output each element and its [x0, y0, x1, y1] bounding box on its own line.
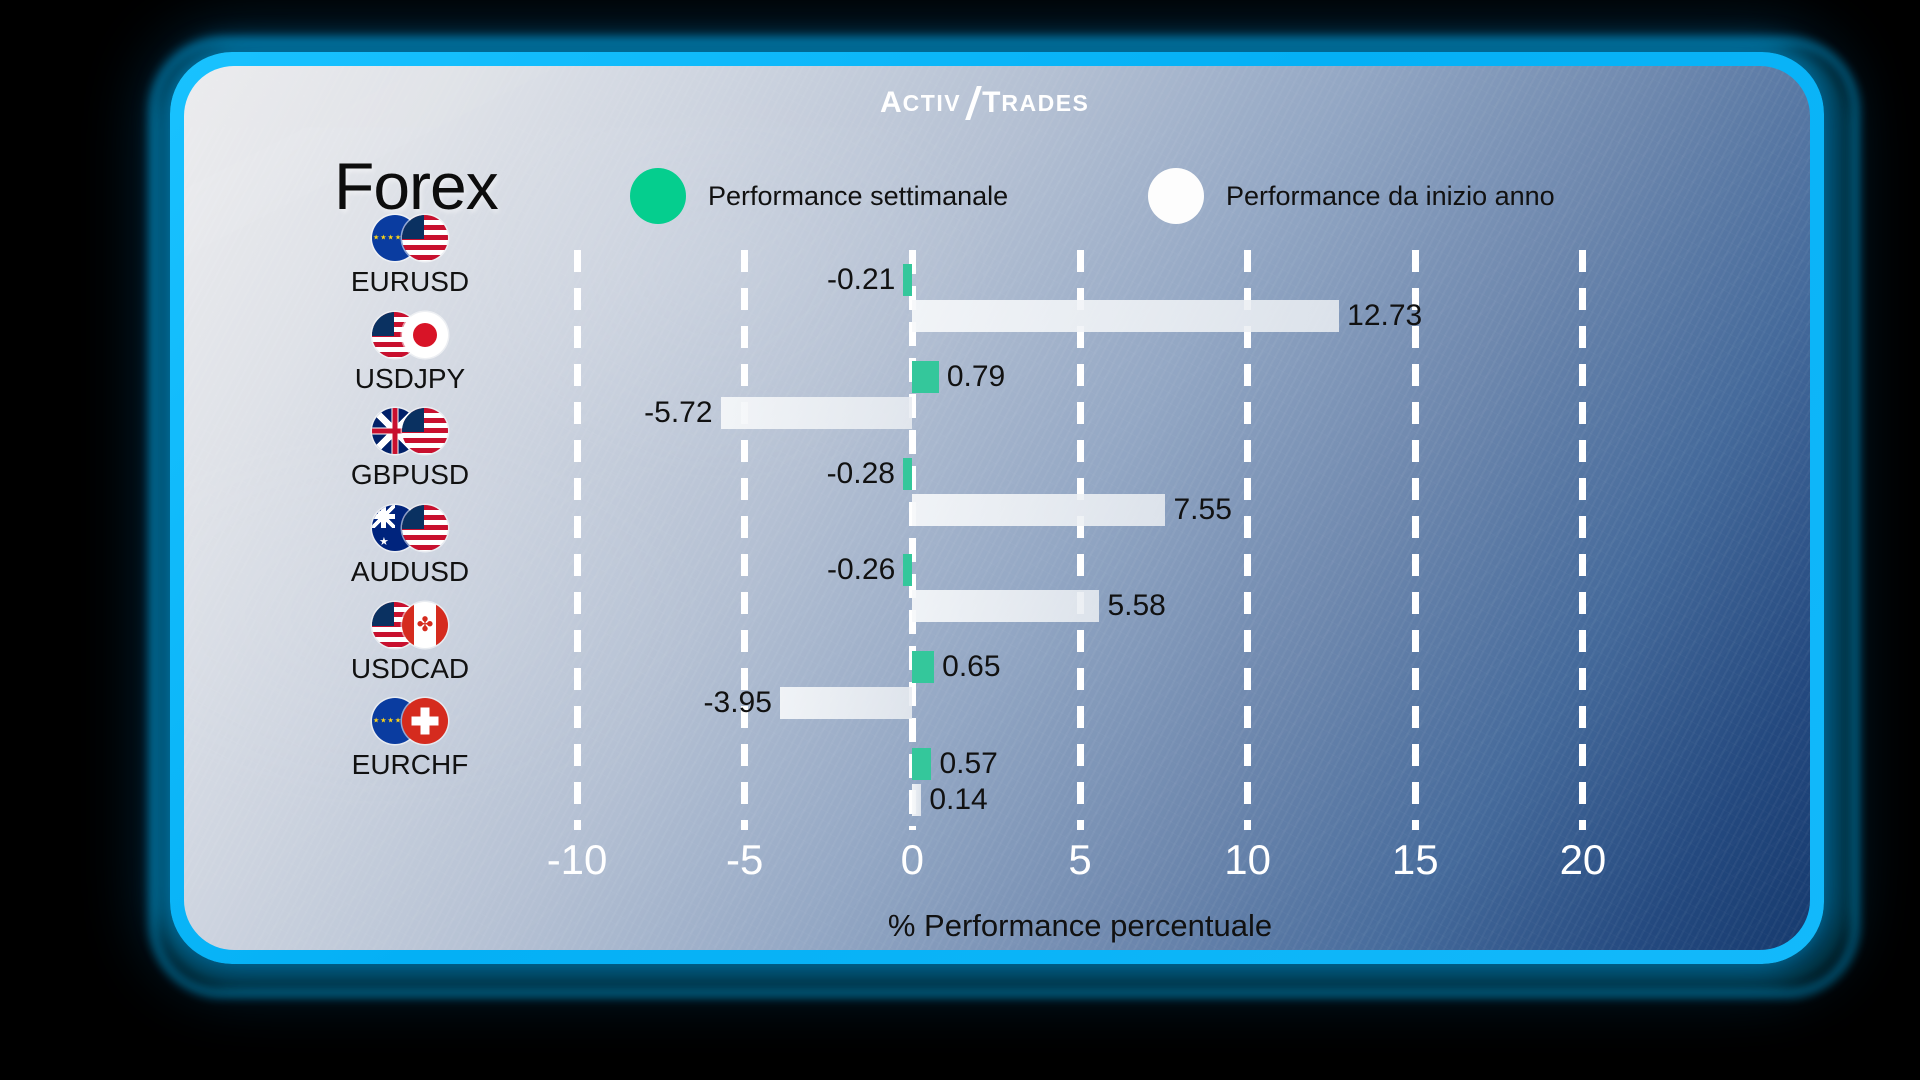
flag-pair — [300, 405, 520, 457]
gridline-zero — [909, 250, 916, 830]
bar-value-label: -0.21 — [827, 264, 895, 296]
bar-eurchf-weekly — [912, 748, 931, 780]
flag-pair — [300, 309, 520, 361]
logo-a: A — [880, 86, 903, 120]
bar-value-label: 12.73 — [1347, 300, 1422, 332]
x-tick-label: 10 — [1224, 836, 1271, 884]
bar-value-label: -0.26 — [827, 554, 895, 586]
x-tick-label: 0 — [901, 836, 924, 884]
legend-marker-green-circle — [630, 168, 686, 224]
category-usdcad: ✤USDCAD — [300, 599, 520, 685]
category-usdjpy: USDJPY — [300, 309, 520, 395]
category-label: EURUSD — [300, 266, 520, 298]
logo-rades: RADES — [1001, 90, 1089, 117]
bar-eurchf-ytd — [912, 784, 921, 816]
category-gbpusd: GBPUSD — [300, 405, 520, 491]
category-label: GBPUSD — [300, 459, 520, 491]
category-label: USDJPY — [300, 363, 520, 395]
bar-gbpusd-ytd — [912, 494, 1165, 526]
chart-screenshot: ACTIVTRADES Forex Performance settimanal… — [0, 0, 1920, 1080]
flag-us-icon — [402, 505, 448, 551]
logo-ctiv: CTIV — [903, 90, 961, 117]
bar-audusd-weekly — [903, 554, 912, 586]
flag-pair: ✤ — [300, 599, 520, 651]
legend-label-weekly: Performance settimanale — [708, 181, 1008, 212]
flag-pair — [300, 212, 520, 264]
category-label: AUDUSD — [300, 556, 520, 588]
bar-value-label: 7.55 — [1174, 494, 1232, 526]
logo-t: T — [982, 86, 1001, 120]
x-tick-label: 20 — [1560, 836, 1607, 884]
legend-label-ytd: Performance da inizio anno — [1226, 181, 1555, 212]
bar-eurusd-weekly — [903, 264, 912, 296]
category-label: USDCAD — [300, 653, 520, 685]
bar-usdjpy-weekly — [912, 361, 938, 393]
gridline — [1412, 250, 1419, 830]
category-eurusd: EURUSD — [300, 212, 520, 298]
flag-jp-icon — [402, 312, 448, 358]
x-tick-label: 5 — [1068, 836, 1091, 884]
x-tick-label: -10 — [547, 836, 608, 884]
bar-eurusd-ytd — [912, 300, 1339, 332]
maple-leaf-icon: ✤ — [417, 615, 434, 635]
bar-value-label: -0.28 — [827, 458, 895, 490]
flag-pair — [300, 695, 520, 747]
bar-value-label: 0.14 — [929, 784, 987, 816]
flag-ca-icon: ✤ — [402, 602, 448, 648]
flag-us-icon — [402, 408, 448, 454]
legend-item-ytd: Performance da inizio anno — [1148, 168, 1555, 224]
bar-value-label: 0.65 — [942, 651, 1000, 683]
x-tick-label: 15 — [1392, 836, 1439, 884]
bar-usdcad-weekly — [912, 651, 934, 683]
gridline — [1579, 250, 1586, 830]
legend-item-weekly: Performance settimanale — [630, 168, 1008, 224]
checkmark-icon — [964, 88, 981, 118]
plot-area: -0.210.79-0.28-0.260.650.5712.73-5.727.5… — [510, 250, 1650, 830]
category-audusd: AUDUSD — [300, 502, 520, 588]
flag-pair — [300, 502, 520, 554]
flag-us-icon — [402, 215, 448, 261]
bar-value-label: 0.79 — [947, 361, 1005, 393]
bar-value-label: -5.72 — [644, 397, 712, 429]
bar-value-label: 0.57 — [939, 748, 997, 780]
flag-ch-icon — [402, 698, 448, 744]
gridline — [741, 250, 748, 830]
bar-usdcad-ytd — [780, 687, 912, 719]
gridline — [1244, 250, 1251, 830]
gridline — [574, 250, 581, 830]
category-eurchf: EURCHF — [300, 695, 520, 781]
bar-audusd-ytd — [912, 590, 1099, 622]
x-axis-title: % Performance percentuale — [510, 908, 1650, 944]
gridline — [1077, 250, 1084, 830]
legend-marker-white-circle — [1148, 168, 1204, 224]
bar-usdjpy-ytd — [721, 397, 913, 429]
x-tick-label: -5 — [726, 836, 763, 884]
category-label: EURCHF — [300, 749, 520, 781]
bar-value-label: 5.58 — [1107, 590, 1165, 622]
activtrades-logo: ACTIVTRADES — [880, 86, 1089, 120]
bar-value-label: -3.95 — [704, 687, 772, 719]
bar-gbpusd-weekly — [903, 458, 912, 490]
